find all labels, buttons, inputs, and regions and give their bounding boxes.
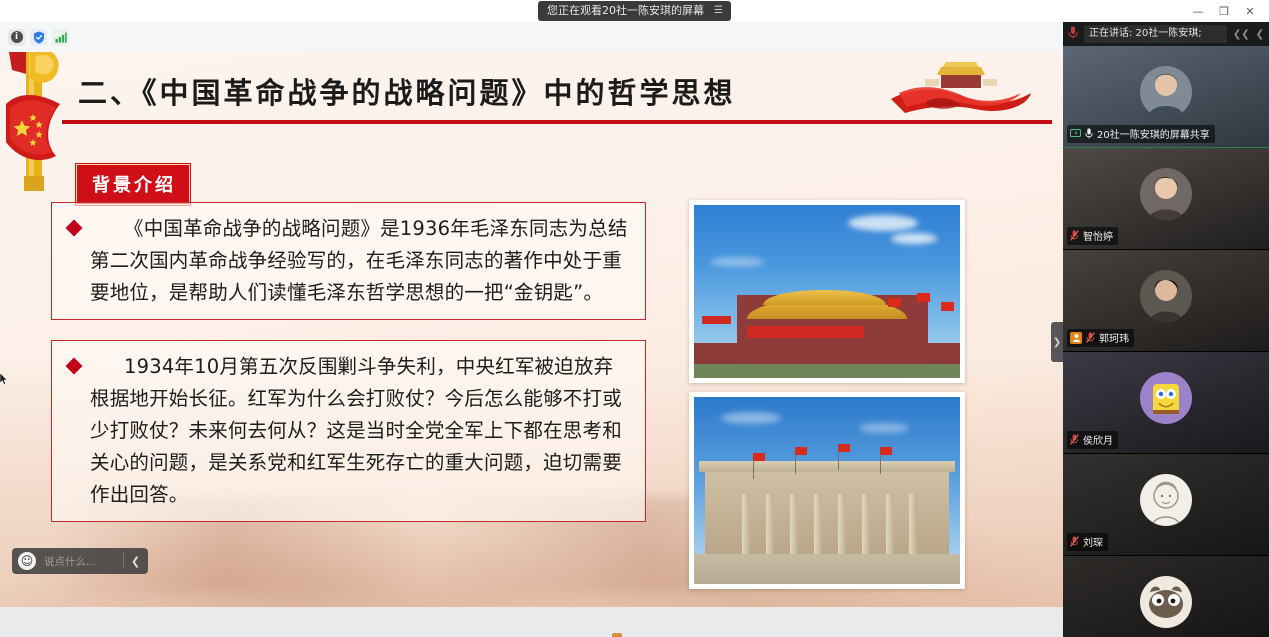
minimize-button[interactable]: —: [1185, 0, 1211, 22]
bottom-strip: [0, 607, 1063, 637]
participant-name: 侯欣月: [1083, 432, 1113, 447]
avatar: [1140, 66, 1192, 118]
chat-divider: [123, 553, 124, 569]
avatar: [1140, 474, 1192, 526]
bullet-box-2: 1934年10月第五次反围剿斗争失利，中央红军被迫放弃根据地开始长征。红军为什么…: [51, 340, 646, 522]
chat-collapse-icon[interactable]: ❮: [131, 555, 148, 568]
chat-input-bar[interactable]: ☺ 说点什么... ❮: [12, 548, 148, 574]
tiananmen-ribbon-ornament: [881, 57, 1041, 119]
participant-name: 郭珂玮: [1099, 330, 1129, 345]
screen-share-icon: [1070, 129, 1081, 138]
close-button[interactable]: ✕: [1237, 0, 1263, 22]
screen-share-notice-label: 您正在观看20社一陈安琪的屏幕: [547, 3, 704, 18]
diamond-bullet-icon: [66, 358, 83, 375]
mic-off-icon: [1070, 434, 1079, 445]
avatar: [1140, 270, 1192, 322]
share-menu-icon[interactable]: ☰: [714, 3, 722, 18]
participant-tile[interactable]: [1063, 556, 1269, 637]
participant-label: 侯欣月: [1067, 431, 1118, 449]
shield-icon[interactable]: [30, 29, 47, 46]
mouse-cursor: [0, 370, 8, 382]
window-titlebar: 您正在观看20社一陈安琪的屏幕 ☰ — ❐ ✕: [0, 0, 1269, 22]
active-speaker-bar: 正在讲话: 20社一陈安琪; ❮❮ ❮: [1063, 22, 1269, 46]
participant-label: 20社一陈安琪的屏幕共享: [1067, 125, 1215, 143]
restore-button[interactable]: ❐: [1211, 0, 1237, 22]
participant-name: 智怡婷: [1083, 228, 1113, 243]
active-speaker-label: 正在讲话: 20社一陈安琪;: [1084, 25, 1227, 43]
diamond-bullet-icon: [66, 220, 83, 237]
participant-tile[interactable]: 刘琛: [1063, 454, 1269, 556]
participant-name: 20社一陈安琪的屏幕共享: [1097, 126, 1210, 141]
participant-tile[interactable]: 郭珂玮: [1063, 250, 1269, 352]
bullet-text-1: 《中国革命战争的战略问题》是1936年毛泽东同志为总结第二次国内革命战争经验写的…: [90, 213, 633, 309]
participant-name: 刘琛: [1083, 534, 1103, 549]
section-badge: 背景介绍: [76, 164, 190, 205]
status-icon-strip: i: [0, 22, 1063, 52]
participant-label: 刘琛: [1067, 533, 1108, 551]
scroll-indicator: [612, 633, 622, 637]
shared-screen-slide[interactable]: 二、《中国革命战争的战略问题》中的哲学思想 背景介绍 《中国革命战争的战略问题》…: [0, 52, 1063, 607]
participant-tile[interactable]: 侯欣月: [1063, 352, 1269, 454]
avatar: [1140, 576, 1192, 628]
participant-tile[interactable]: 智怡婷: [1063, 148, 1269, 250]
participant-panel: 正在讲话: 20社一陈安琪; ❮❮ ❮: [1063, 22, 1269, 637]
participant-tile[interactable]: 20社一陈安琪的屏幕共享: [1063, 46, 1269, 148]
collapse-panel-handle[interactable]: ❯: [1051, 322, 1063, 362]
chat-input[interactable]: 说点什么...: [44, 554, 116, 569]
emoji-icon[interactable]: ☺: [18, 552, 36, 570]
screen-share-notice[interactable]: 您正在观看20社一陈安琪的屏幕 ☰: [538, 1, 731, 21]
mic-off-icon: [1070, 536, 1079, 547]
gold-column-flag-ornament: [0, 52, 70, 191]
tiananmen-gate-photo: [689, 200, 965, 383]
mic-on-icon: [1085, 128, 1093, 139]
mic-icon: [1068, 26, 1078, 42]
mic-off-icon: [1086, 332, 1095, 343]
mic-off-icon: [1070, 230, 1079, 241]
great-hall-of-the-people-photo: [689, 392, 965, 589]
info-icon-glyph: i: [11, 31, 23, 43]
title-underline-rule: [62, 120, 1052, 124]
avatar: [1140, 168, 1192, 220]
bullet-box-1: 《中国革命战争的战略问题》是1936年毛泽东同志为总结第二次国内革命战争经验写的…: [51, 202, 646, 320]
bullet-text-2: 1934年10月第五次反围剿斗争失利，中央红军被迫放弃根据地开始长征。红军为什么…: [90, 351, 633, 511]
host-icon: [1070, 332, 1082, 344]
participant-tiles[interactable]: 20社一陈安琪的屏幕共享: [1063, 46, 1269, 637]
next-page-button[interactable]: ❮: [1256, 29, 1264, 40]
signal-icon[interactable]: [52, 29, 69, 46]
prev-page-button[interactable]: ❮❮: [1233, 29, 1250, 40]
window-controls: — ❐ ✕: [1185, 0, 1269, 22]
page-title: 二、《中国革命战争的战略问题》中的哲学思想: [78, 70, 736, 112]
participant-label: 郭珂玮: [1067, 329, 1134, 347]
avatar: [1140, 372, 1192, 424]
participant-label: 智怡婷: [1067, 227, 1118, 245]
info-icon[interactable]: i: [8, 29, 25, 46]
